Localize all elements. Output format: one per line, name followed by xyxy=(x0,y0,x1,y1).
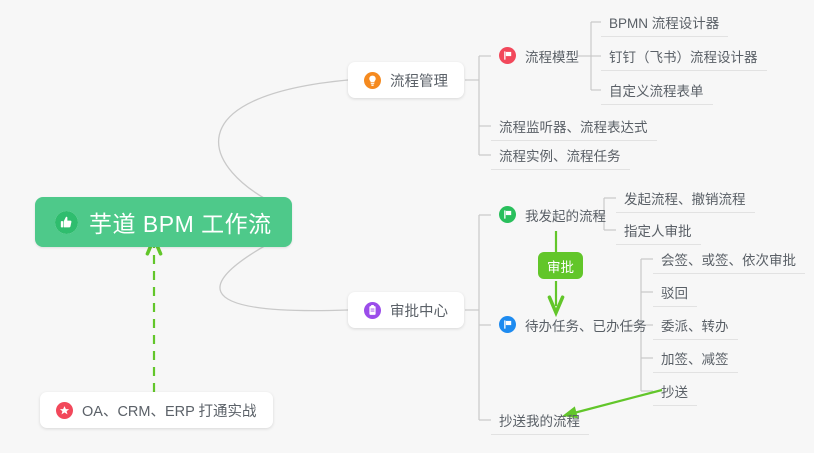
branch-label: 审批中心 xyxy=(390,300,448,321)
node-process-listener[interactable]: 流程监听器、流程表达式 xyxy=(491,111,657,141)
leaf-assignee-approve[interactable]: 指定人审批 xyxy=(616,215,701,245)
leaf-custom-form[interactable]: 自定义流程表单 xyxy=(601,75,713,105)
leaf-label: 钉钉（飞书）流程设计器 xyxy=(609,46,758,66)
edge-root-to-process-management xyxy=(219,80,348,206)
node-label: 流程实例、流程任务 xyxy=(499,145,621,165)
node-label: 我发起的流程 xyxy=(525,205,606,225)
leaf-label: 指定人审批 xyxy=(624,220,692,240)
footer-node-integration[interactable]: OA、CRM、ERP 打通实战 xyxy=(40,392,273,428)
mindmap-canvas: 芋道 BPM 工作流 流程管理 流程模型 BPMN 流程设计器 钉钉（飞书）流程… xyxy=(0,0,814,453)
node-label: 流程监听器、流程表达式 xyxy=(499,116,648,136)
node-process-model[interactable]: 流程模型 xyxy=(491,41,588,71)
leaf-label: 驳回 xyxy=(661,282,688,302)
node-label: 抄送我的流程 xyxy=(499,410,580,430)
leaf-label: 加签、减签 xyxy=(661,348,729,368)
leaf-countersign[interactable]: 会签、或签、依次审批 xyxy=(653,244,805,274)
branch-node-approval-center[interactable]: 审批中心 xyxy=(348,292,464,328)
node-process-instance[interactable]: 流程实例、流程任务 xyxy=(491,140,630,170)
lightbulb-icon xyxy=(364,72,381,89)
root-label: 芋道 BPM 工作流 xyxy=(89,205,272,239)
leaf-label: BPMN 流程设计器 xyxy=(609,12,719,32)
star-icon xyxy=(56,402,73,419)
node-label: 流程模型 xyxy=(525,46,579,66)
node-label: 待办任务、已办任务 xyxy=(525,315,647,335)
leaf-label: 自定义流程表单 xyxy=(609,80,704,100)
leaf-dingtalk-designer[interactable]: 钉钉（飞书）流程设计器 xyxy=(601,41,767,71)
footer-node-label: OA、CRM、ERP 打通实战 xyxy=(82,400,257,421)
branch-node-process-management[interactable]: 流程管理 xyxy=(348,62,464,98)
leaf-label: 会签、或签、依次审批 xyxy=(661,249,796,269)
root-node[interactable]: 芋道 BPM 工作流 xyxy=(35,197,292,247)
callout-approve-chip[interactable]: 审批 xyxy=(538,252,583,279)
leaf-bpmn-designer[interactable]: BPMN 流程设计器 xyxy=(601,7,728,37)
leaf-delegate-transfer[interactable]: 委派、转办 xyxy=(653,310,738,340)
leaf-carbon-copy[interactable]: 抄送 xyxy=(653,376,697,406)
leaf-label: 发起流程、撤销流程 xyxy=(624,188,746,208)
flag-icon xyxy=(499,47,516,64)
leaf-label: 委派、转办 xyxy=(661,315,729,335)
edge-root-to-approval-center xyxy=(220,238,348,311)
flag-icon xyxy=(499,206,516,223)
callout-label: 审批 xyxy=(547,256,574,276)
node-todo-done-tasks[interactable]: 待办任务、已办任务 xyxy=(491,310,656,340)
node-my-started-processes[interactable]: 我发起的流程 xyxy=(491,200,615,230)
flag-icon xyxy=(499,316,516,333)
thumbs-up-icon xyxy=(55,211,78,234)
node-copied-to-me[interactable]: 抄送我的流程 xyxy=(491,405,589,435)
clipboard-icon xyxy=(364,302,381,319)
leaf-add-remove-sign[interactable]: 加签、减签 xyxy=(653,343,738,373)
branch-label: 流程管理 xyxy=(390,70,448,91)
leaf-start-cancel-process[interactable]: 发起流程、撤销流程 xyxy=(616,183,755,213)
leaf-label: 抄送 xyxy=(661,381,688,401)
leaf-reject[interactable]: 驳回 xyxy=(653,277,697,307)
